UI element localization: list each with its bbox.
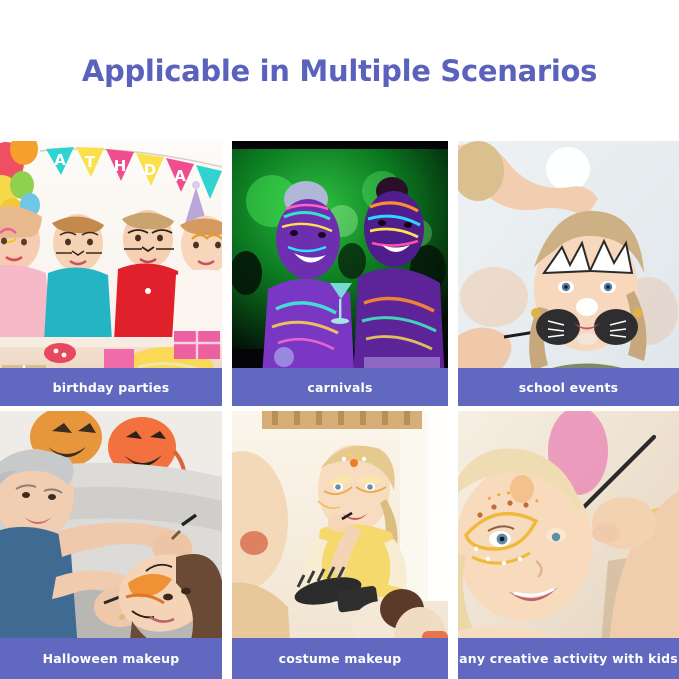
scenario-card-creative-activity[interactable]: any creative activity with kids [458, 411, 679, 679]
scenario-card-carnivals[interactable]: carnivals [232, 141, 448, 406]
scenarios-page: Applicable in Multiple Scenarios [0, 0, 679, 679]
scenario-caption: school events [458, 368, 679, 406]
scenario-caption: any creative activity with kids [458, 638, 679, 679]
svg-text:D: D [144, 161, 156, 179]
scenario-card-school-events[interactable]: school events [458, 141, 679, 406]
carnival-photo [232, 141, 448, 406]
svg-text:A: A [54, 151, 66, 169]
scenario-caption: carnivals [232, 368, 448, 406]
scenario-grid: A T H D A [0, 141, 679, 679]
scenario-caption: costume makeup [232, 638, 448, 679]
grid-gap [222, 411, 232, 679]
scenario-caption: birthday parties [0, 368, 222, 406]
svg-text:A: A [174, 167, 186, 185]
scenario-card-halloween-makeup[interactable]: Halloween makeup [0, 411, 222, 679]
school-event-photo [458, 141, 679, 406]
grid-gap [448, 411, 458, 679]
svg-text:H: H [114, 157, 127, 175]
page-header: Applicable in Multiple Scenarios [0, 0, 679, 141]
grid-gap [222, 141, 232, 406]
grid-gap [448, 141, 458, 406]
scenario-card-birthday-parties[interactable]: A T H D A [0, 141, 222, 406]
page-title: Applicable in Multiple Scenarios [82, 54, 597, 88]
scenario-card-costume-makeup[interactable]: costume makeup [232, 411, 448, 679]
svg-text:T: T [85, 153, 96, 171]
birthday-party-photo: A T H D A [0, 141, 222, 406]
scenario-caption: Halloween makeup [0, 638, 222, 679]
